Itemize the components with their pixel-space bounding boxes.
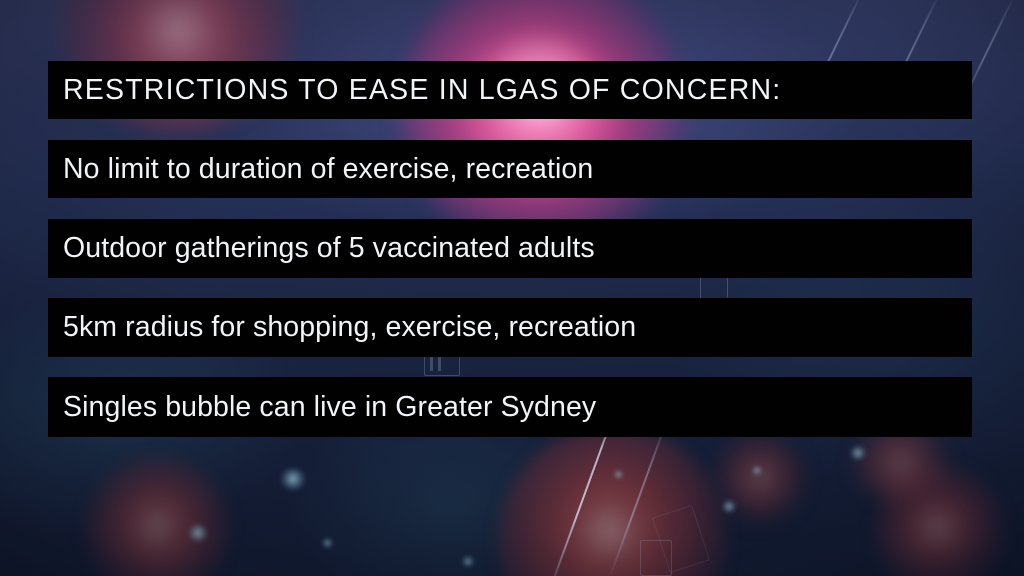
bullet-text-4: Singles bubble can live in Greater Sydne… [63, 391, 596, 424]
caption-bar-stack: RESTRICTIONS TO EASE IN LGAS OF CONCERN:… [0, 0, 1024, 576]
bullet-bar-2: Outdoor gatherings of 5 vaccinated adult… [48, 219, 972, 278]
bullet-bar-1: No limit to duration of exercise, recrea… [48, 140, 972, 198]
headline-text: RESTRICTIONS TO EASE IN LGAS OF CONCERN: [63, 74, 781, 107]
broadcast-graphic-stage: RESTRICTIONS TO EASE IN LGAS OF CONCERN:… [0, 0, 1024, 576]
bullet-bar-3: 5km radius for shopping, exercise, recre… [48, 298, 972, 357]
bullet-text-2: Outdoor gatherings of 5 vaccinated adult… [63, 232, 595, 265]
headline-bar: RESTRICTIONS TO EASE IN LGAS OF CONCERN: [48, 61, 972, 119]
bullet-text-1: No limit to duration of exercise, recrea… [63, 153, 593, 186]
bullet-bar-4: Singles bubble can live in Greater Sydne… [48, 377, 972, 437]
bullet-text-3: 5km radius for shopping, exercise, recre… [63, 311, 636, 344]
